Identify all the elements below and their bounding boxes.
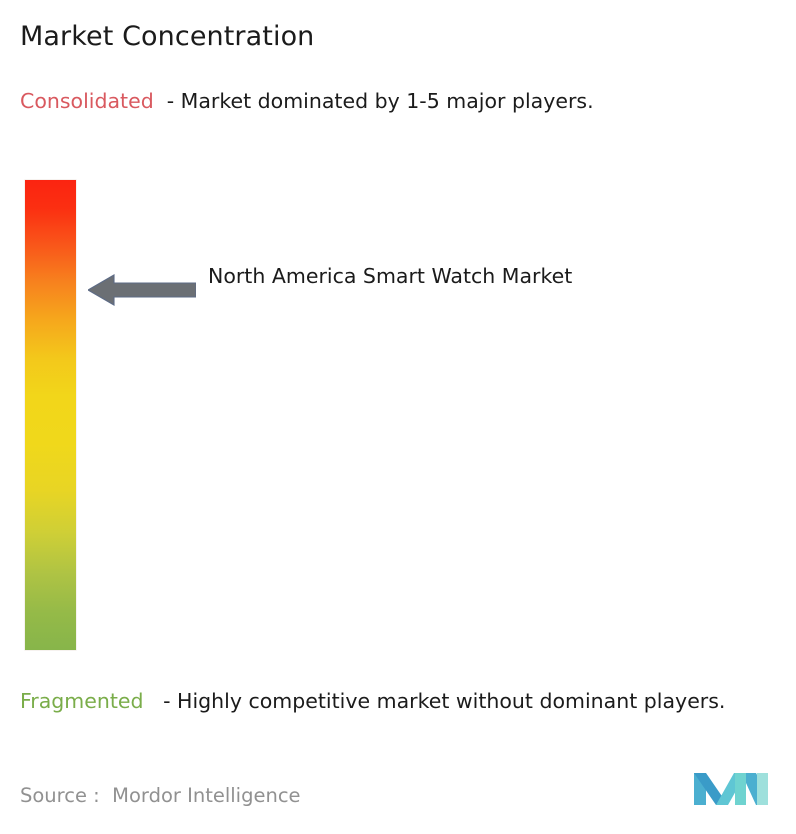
legend-fragmented: Fragmented - Highly competitive market w… bbox=[20, 686, 785, 717]
legend-consolidated-description: - Market dominated by 1-5 major players. bbox=[167, 89, 594, 113]
page-title: Market Concentration bbox=[20, 20, 314, 54]
callout-label-text: North America Smart Watch Market bbox=[208, 264, 572, 288]
callout-label: North America Smart Watch Market bbox=[208, 259, 628, 294]
left-arrow-icon bbox=[88, 272, 196, 308]
legend-fragmented-separator bbox=[144, 689, 164, 713]
mordor-intelligence-logo bbox=[694, 769, 768, 809]
chart-canvas: Market Concentration Consolidated - Mark… bbox=[0, 0, 796, 834]
legend-consolidated-keyword: Consolidated bbox=[20, 89, 154, 113]
source-note: Source : Mordor Intelligence bbox=[20, 783, 301, 809]
legend-fragmented-description: - Highly competitive market without domi… bbox=[163, 689, 725, 713]
legend-fragmented-keyword: Fragmented bbox=[20, 689, 144, 713]
legend-consolidated: Consolidated - Market dominated by 1-5 m… bbox=[20, 86, 760, 117]
legend-consolidated-separator bbox=[154, 89, 167, 113]
market-concentration-gradient-bar bbox=[25, 180, 76, 650]
